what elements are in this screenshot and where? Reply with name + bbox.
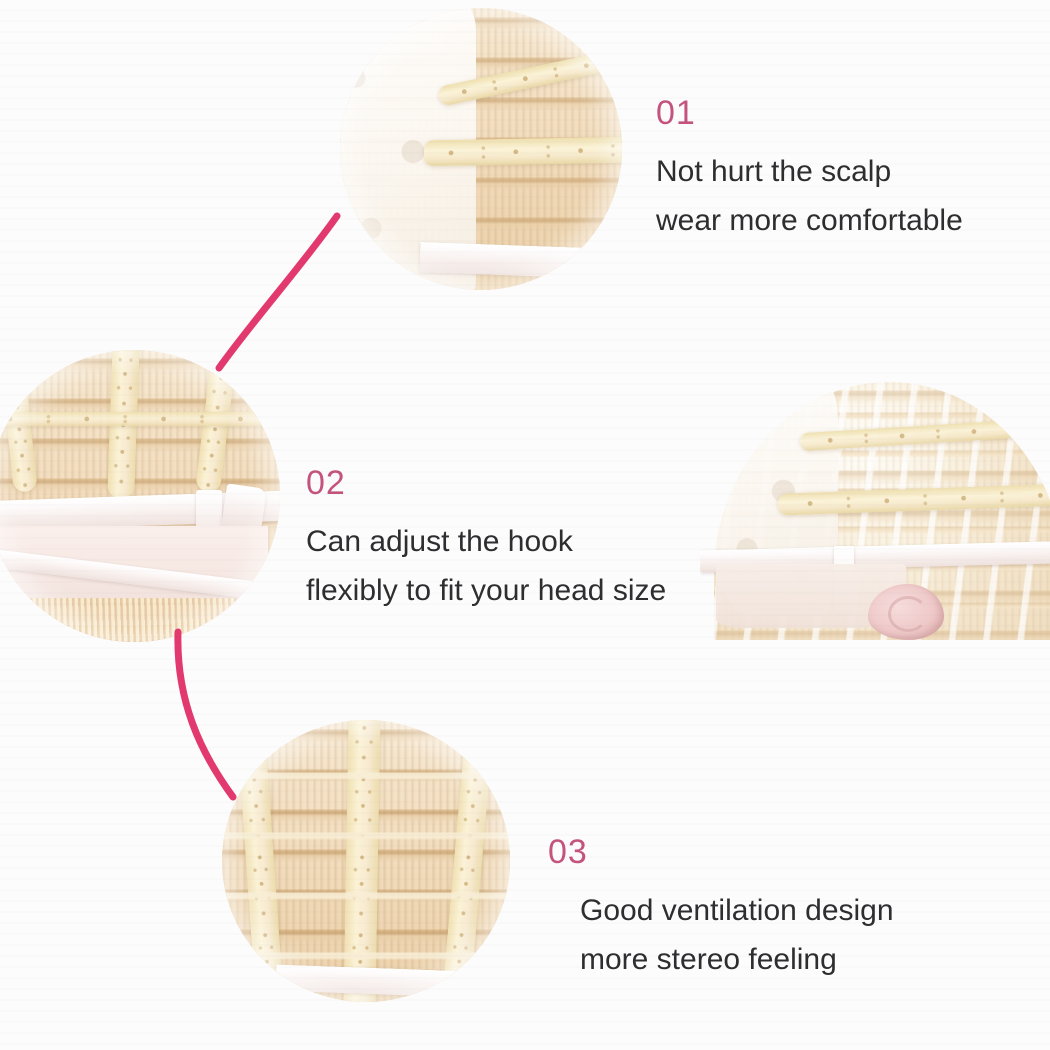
feature-number-3: 03 (548, 835, 894, 869)
wig-cap-feature-infographic: 01 Not hurt the scalp wear more comforta… (0, 0, 1050, 1050)
feature-photo-1 (340, 8, 622, 290)
feature-line-2b: flexibly to fit your head size (306, 567, 666, 616)
main-wig-photo (700, 378, 1050, 660)
feature-line-3b: more stereo feeling (580, 936, 894, 985)
feature-photo-2 (0, 350, 280, 642)
feature-photo-3 (222, 720, 510, 1002)
feature-number-1: 01 (656, 96, 963, 130)
feature-text-1: 01 Not hurt the scalp wear more comforta… (656, 96, 963, 245)
feature-number-2: 02 (306, 466, 666, 500)
feature-line-1a: Not hurt the scalp (656, 148, 963, 197)
feature-line-1b: wear more comfortable (656, 197, 963, 246)
connector-line-1-2 (219, 216, 337, 368)
feature-line-2a: Can adjust the hook (306, 518, 666, 567)
feature-text-2: 02 Can adjust the hook flexibly to fit y… (306, 466, 666, 615)
feature-text-3: 03 Good ventilation design more stereo f… (548, 835, 894, 984)
feature-line-3a: Good ventilation design (580, 887, 894, 936)
